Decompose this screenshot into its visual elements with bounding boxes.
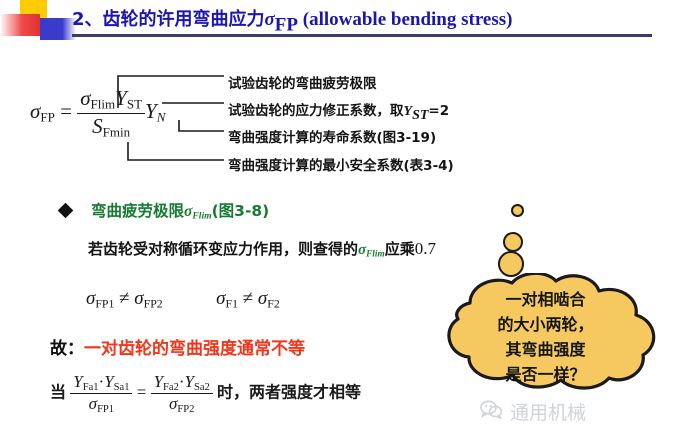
subline-part2: 应乘: [385, 240, 415, 258]
bubble-line-3: 其弯曲强度: [418, 337, 673, 362]
cond-lhs-b-sub: Sa1: [114, 382, 130, 393]
annotation-item: 试验齿轮的弯曲疲劳极限: [228, 72, 377, 92]
condition-rhs-den: σFP2: [151, 393, 213, 415]
page-title-english: (allowable bending stress): [303, 9, 513, 30]
ineq-right-b-sub: F2: [267, 297, 279, 310]
formula-denominator: SFmin: [77, 113, 145, 141]
condition-lhs-den: σFP1: [70, 393, 132, 415]
thought-bubble-text: 一对相啮合 的大小两轮， 其弯曲强度 是否一样？: [418, 287, 673, 387]
ineq-right-b-sym: σ: [258, 288, 267, 309]
annotation-text: 弯曲强度计算的寿命系数(图3-19): [228, 130, 436, 146]
watermark-text: 通用机械: [510, 398, 586, 425]
subline-sym: σ: [358, 242, 366, 258]
condition-formula-row: 当 YFa1·YSa1 σFP1 = YFa2·YSa2 σFP2 时，两者强度…: [50, 372, 361, 415]
formula-numerator: σFlimYST: [77, 86, 145, 113]
condition-suffix: 时，两者强度才相等: [217, 382, 361, 401]
ineq-left-a-sym: σ: [86, 288, 95, 309]
cond-rhs-a-sym: Y: [154, 372, 163, 391]
annotation-item: 弯曲强度计算的最小安全系数(表3-4): [228, 154, 454, 174]
thought-bubble-dot-small: [511, 204, 524, 217]
page-title-sigma-sub: FP: [275, 14, 298, 35]
page-title: 2、齿轮的许用弯曲应力σFP (allowable bending stress…: [72, 5, 512, 36]
condition-prefix: 当: [50, 382, 66, 401]
ineq-right-a-sub: F1: [226, 297, 238, 310]
formula-equals: =: [60, 99, 72, 123]
annotation-item: 弯曲强度计算的寿命系数(图3-19): [228, 126, 436, 146]
thought-bubble-dot-medium: [503, 232, 523, 252]
slide-canvas: 2、齿轮的许用弯曲应力σFP (allowable bending stress…: [0, 0, 687, 429]
formula-num-sym1: σ: [80, 86, 90, 110]
bubble-line-1: 一对相啮合: [418, 287, 673, 312]
cond-lhs-a-sub: Fa1: [83, 382, 99, 393]
cond-lhs-den-sub: FP1: [97, 404, 114, 415]
condition-rhs-num: YFa2·YSa2: [151, 372, 213, 393]
cond-lhs-den-sym: σ: [89, 394, 97, 413]
inequality-row: σFP1 ≠ σFP2 σF1 ≠ σF2: [86, 288, 280, 311]
bullet-heading-row: 弯曲疲劳极限σFlim(图3-8): [60, 199, 269, 222]
bubble-line-4: 是否一样？: [418, 362, 673, 387]
condition-equals: =: [137, 382, 147, 401]
cond-rhs-den-sub: FP2: [177, 404, 194, 415]
condition-rhs-fraction: YFa2·YSa2 σFP2: [151, 372, 213, 415]
bullet-sym-sub: Flim: [192, 211, 211, 222]
ineq-left-b-sym: σ: [134, 288, 143, 309]
bullet-label: 弯曲疲劳极限: [91, 202, 184, 220]
condition-lhs-fraction: YFa1·YSa1 σFP1: [70, 372, 132, 415]
formula-num-sub1: Flim: [91, 97, 116, 112]
bubble-line-2: 的大小两轮，: [418, 312, 673, 337]
formula-den-sub: Fmin: [103, 124, 131, 139]
subline-part1: 若齿轮受对称循环变应力作用，则查得的: [88, 240, 358, 258]
ineq-left-op: ≠: [119, 288, 129, 309]
watermark: 通用机械: [480, 398, 586, 425]
annotation-sym-sub: ST: [412, 108, 428, 123]
formula-lhs-sub: FP: [40, 110, 54, 125]
conclusion-text: 一对齿轮的弯曲强度通常不等: [84, 339, 305, 359]
formula-fraction: σFlimYST SFmin: [77, 86, 145, 140]
ineq-right-op: ≠: [243, 288, 253, 309]
page-title-sigma: σ: [265, 9, 275, 30]
formula-lhs-sym: σ: [30, 99, 40, 123]
conclusion-row: 故：一对齿轮的弯曲强度通常不等: [50, 334, 305, 359]
cond-rhs-b-sym: Y: [185, 372, 194, 391]
subline-value: 0.7: [415, 239, 436, 258]
formula-allowable-bending-stress: σFP = σFlimYST SFmin YN: [30, 86, 165, 140]
cond-rhs-b-sub: Sa2: [194, 382, 210, 393]
annotation-text: 弯曲强度计算的最小安全系数(表3-4): [228, 158, 454, 174]
bullet-ref: (图3-8): [212, 202, 270, 220]
ineq-left-a-sub: FP1: [95, 297, 114, 310]
cond-rhs-a-sub: Fa2: [163, 382, 179, 393]
annotation-text: 试验齿轮的应力修正系数，取: [228, 103, 404, 119]
formula-num-sub2: ST: [127, 97, 142, 112]
subline-sym-sub: Flim: [366, 250, 385, 260]
conclusion-lead: 故：: [50, 339, 84, 359]
annotation-item: 试验齿轮的应力修正系数，取YST=2: [228, 99, 449, 124]
annotation-sym: Y: [404, 104, 413, 119]
cond-lhs-b-sym: Y: [104, 372, 113, 391]
formula-tail-sym: Y: [145, 99, 157, 123]
condition-lhs-num: YFa1·YSa1: [70, 372, 132, 393]
ineq-right-a-sym: σ: [216, 288, 225, 309]
cond-lhs-a-sym: Y: [73, 372, 82, 391]
ineq-left-b-sub: FP2: [144, 297, 163, 310]
formula-tail-sub: N: [157, 110, 166, 125]
bullet-heading: 弯曲疲劳极限σFlim(图3-8): [91, 202, 269, 220]
annotation-tail: =2: [428, 103, 449, 119]
formula-den-sym: S: [92, 114, 103, 138]
page-title-cn: 2、齿轮的许用弯曲应力: [72, 9, 265, 30]
decor-square-red: [0, 14, 40, 36]
wechat-icon: [480, 400, 503, 424]
title-underline: [72, 34, 652, 37]
annotation-text: 试验齿轮的弯曲疲劳极限: [228, 76, 377, 92]
bullet-subline: 若齿轮受对称循环变应力作用，则查得的σFlim应乘0.7: [88, 238, 436, 260]
formula-num-sym2: Y: [115, 86, 127, 110]
thought-bubble: 一对相啮合 的大小两轮， 其弯曲强度 是否一样？: [418, 273, 673, 393]
diamond-bullet-icon: [58, 203, 74, 219]
decor-square-blue: [40, 18, 76, 40]
